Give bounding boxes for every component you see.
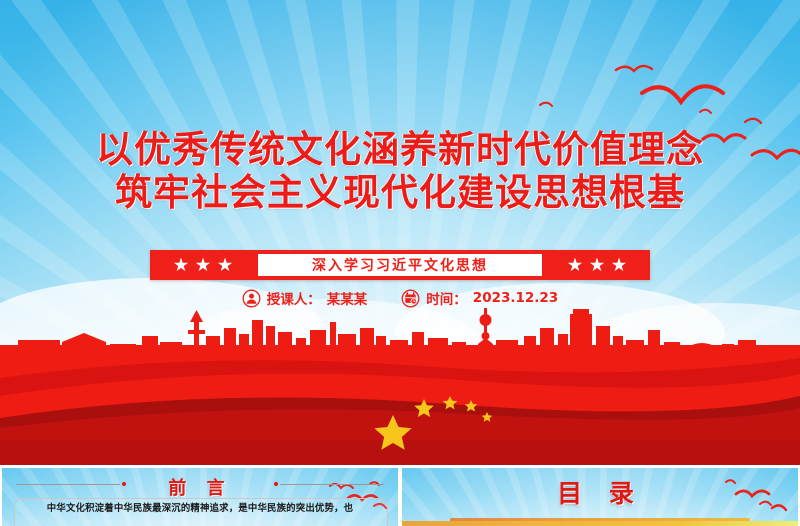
toc-floor-strip [402,521,798,526]
star-icon [218,258,233,273]
star-icon [612,258,627,273]
presenter-label: 授课人： [267,288,321,308]
star-icon [568,258,583,273]
toc-heading: 目 录 [402,474,798,510]
star-icon [590,258,605,273]
title-line-2: 筑牢社会主义现代化建设思想根基 [0,171,800,214]
date-item: 时间： 2023.12.23 [401,288,558,308]
banner-label: 深入学习习近平文化思想 [312,255,488,275]
title-line-1: 以优秀传统文化涵养新时代价值理念 [0,128,800,171]
banner-text-plate: 深入学习习近平文化思想 [258,254,542,276]
person-icon [242,289,261,308]
cover-slide[interactable]: 以优秀传统文化涵养新时代价值理念 筑牢社会主义现代化建设思想根基 深入学习习近平… [0,0,800,465]
thumbnail-slide-preface[interactable]: 前 言 中华文化积淀着中华民族最深沉的精神追求，是中华民族的突出优势，也 [2,468,398,526]
preface-heading: 前 言 [2,474,398,500]
subtitle-banner[interactable]: 深入学习习近平文化思想 [150,250,650,280]
calendar-clock-icon [401,289,420,308]
presenter-item: 授课人： 某某某 [242,288,368,308]
city-skyline-and-waves [0,300,800,465]
cover-meta-row: 授课人： 某某某 时间： 2023.12.23 [0,288,800,308]
cover-title-block: 以优秀传统文化涵养新时代价值理念 筑牢社会主义现代化建设思想根基 [0,128,800,214]
date-label: 时间： [426,288,467,308]
date-value: 2023.12.23 [473,290,558,306]
thumbnail-slide-toc[interactable]: 目 录 [402,468,798,526]
preface-body-text: 中华文化积淀着中华民族最深沉的精神追求，是中华民族的突出优势，也 [26,501,374,516]
banner-stars-left [150,258,256,273]
star-icon [196,258,211,273]
star-icon [174,258,189,273]
presenter-value: 某某某 [327,288,368,308]
presentation-deck: 以优秀传统文化涵养新时代价值理念 筑牢社会主义现代化建设思想根基 深入学习习近平… [0,0,800,526]
banner-stars-right [544,258,650,273]
